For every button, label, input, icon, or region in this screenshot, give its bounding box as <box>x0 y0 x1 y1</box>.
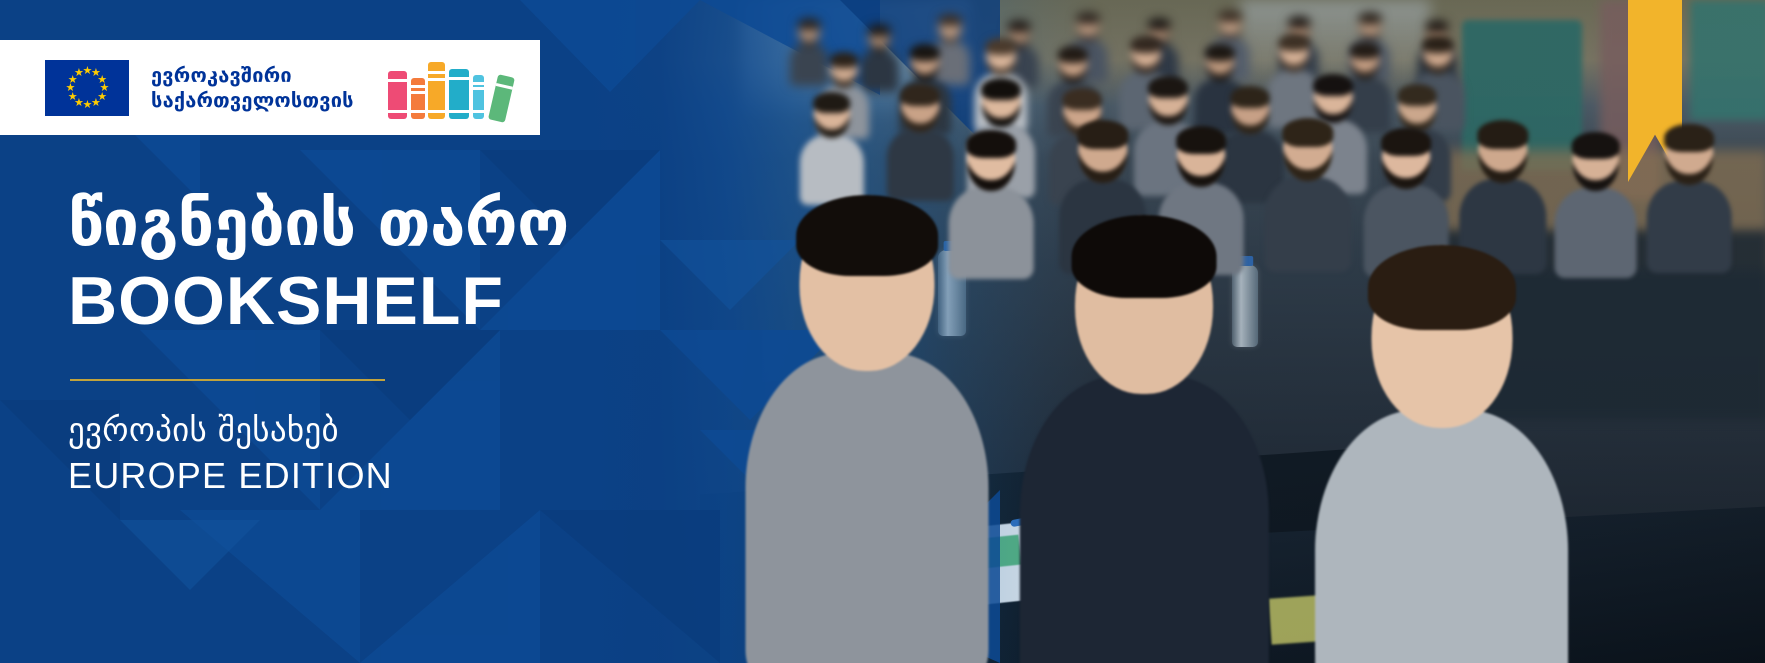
audience-member-hair <box>830 52 859 68</box>
audience-member-body <box>1554 188 1637 278</box>
title-english: BOOKSHELF <box>68 266 848 337</box>
eu-flag-star: ★ <box>74 68 83 77</box>
audience-member-hair <box>1218 10 1242 23</box>
book-spine-band <box>473 82 484 85</box>
book-spine-band <box>473 87 484 90</box>
audience-member-hair <box>1130 36 1161 53</box>
book-spine-pink <box>388 71 407 119</box>
foreground-student-body <box>745 353 988 663</box>
book-spine-band <box>411 110 425 113</box>
audience-member-hair <box>1350 42 1380 59</box>
book-spine-band <box>428 110 445 113</box>
audience-member-hair <box>798 18 821 31</box>
eu-logo-text: ევროკავშირი საქართველოსთვის <box>151 63 354 112</box>
audience-member-hair <box>1231 86 1270 108</box>
eu-georgia-logo-lockup: ★★★★★★★★★★★★ ევროკავშირი საქართველოსთვის <box>0 40 540 135</box>
eu-logo-text-line1: ევროკავშირი <box>151 63 354 87</box>
audience-member-hair <box>1205 44 1235 61</box>
colored-book-spines-icon <box>388 57 513 119</box>
audience-member-hair <box>1282 118 1333 147</box>
audience-member-hair <box>1571 132 1620 159</box>
book-spine-band <box>428 78 445 81</box>
audience-member <box>800 92 863 197</box>
audience-member <box>1460 120 1546 263</box>
book-spine-band <box>449 110 469 113</box>
foreground-student-center <box>1035 215 1254 652</box>
book-spine-band <box>388 79 407 82</box>
book-spine-blue <box>473 75 484 119</box>
audience-member <box>1265 118 1351 261</box>
foreground-student-body <box>1020 376 1268 663</box>
european-union-flag: ★★★★★★★★★★★★ <box>45 60 129 116</box>
foreground-student-hair <box>1368 245 1516 330</box>
audience-member-body <box>887 129 953 201</box>
book-spine-band <box>428 71 445 74</box>
audience-member-hair <box>967 130 1017 158</box>
audience-member-hair <box>1477 120 1528 149</box>
audience-member-hair <box>1398 84 1437 106</box>
audience-member-hair <box>1177 126 1227 154</box>
audience-member-hair <box>1426 20 1449 33</box>
audience-member-hair <box>1665 124 1715 152</box>
audience-member <box>888 84 953 192</box>
book-spine-band <box>495 82 512 89</box>
audience-member-hair <box>985 38 1016 55</box>
foreground-student-left <box>760 195 974 623</box>
audience-member-hair <box>1422 36 1453 53</box>
audience-member-hair <box>1288 16 1311 29</box>
audience-member-hair <box>1358 12 1382 25</box>
audience-member-hair <box>981 78 1021 100</box>
book-spine-band <box>473 110 484 113</box>
book-spine-green <box>488 74 515 123</box>
book-spine-band <box>411 91 425 94</box>
audience-member <box>1648 124 1731 262</box>
audience-member-body <box>1647 181 1732 273</box>
audience-member-hair <box>901 84 940 106</box>
audience-member-hair <box>1382 128 1432 156</box>
audience-member-hair <box>1148 18 1171 31</box>
eu-logo-text-line2: საქართველოსთვის <box>151 88 354 112</box>
foreground-student-hair <box>1072 215 1217 298</box>
headline-block: წიგნების თარო BOOKSHELF ევროპის შესახებ … <box>68 192 848 497</box>
audience-member-hair <box>1148 76 1188 98</box>
bookshelf-europe-edition-banner: ★★★★★★★★★★★★ ევროკავშირი საქართველოსთვის… <box>0 0 1765 663</box>
audience-member-hair <box>1077 120 1128 149</box>
gold-divider-rule <box>70 379 385 381</box>
audience-member-hair <box>868 24 891 37</box>
audience-member-hair <box>1008 20 1031 33</box>
audience-member-hair <box>1063 88 1102 110</box>
foreground-student-body <box>1315 410 1569 663</box>
audience-member-hair <box>813 92 851 113</box>
audience-member-hair <box>938 14 962 27</box>
book-spine-orange <box>411 78 425 119</box>
book-spine-yellow <box>428 62 445 119</box>
audience-member-hair <box>1313 74 1353 96</box>
eu-flag-star: ★ <box>91 98 100 107</box>
book-spine-band <box>449 77 469 80</box>
title-georgian: წიგნების თარო <box>68 192 848 256</box>
subtitle-english: EUROPE EDITION <box>68 455 848 496</box>
audience-member <box>1555 132 1636 267</box>
subtitle-georgian: ევროპის შესახებ <box>68 411 848 449</box>
book-spine-band <box>411 85 425 88</box>
audience-member-hair <box>1058 46 1088 63</box>
audience-member-hair <box>1278 34 1309 51</box>
audience-member-body <box>1264 177 1351 272</box>
audience-member <box>790 18 828 81</box>
book-spine-band <box>388 110 407 113</box>
audience-member-hair <box>910 44 940 61</box>
audience-member-hair <box>1076 12 1100 25</box>
foreground-student-hair <box>796 195 938 276</box>
audience-member-body <box>949 187 1034 279</box>
audience-member <box>950 130 1033 268</box>
book-spine-cyan <box>449 69 469 119</box>
